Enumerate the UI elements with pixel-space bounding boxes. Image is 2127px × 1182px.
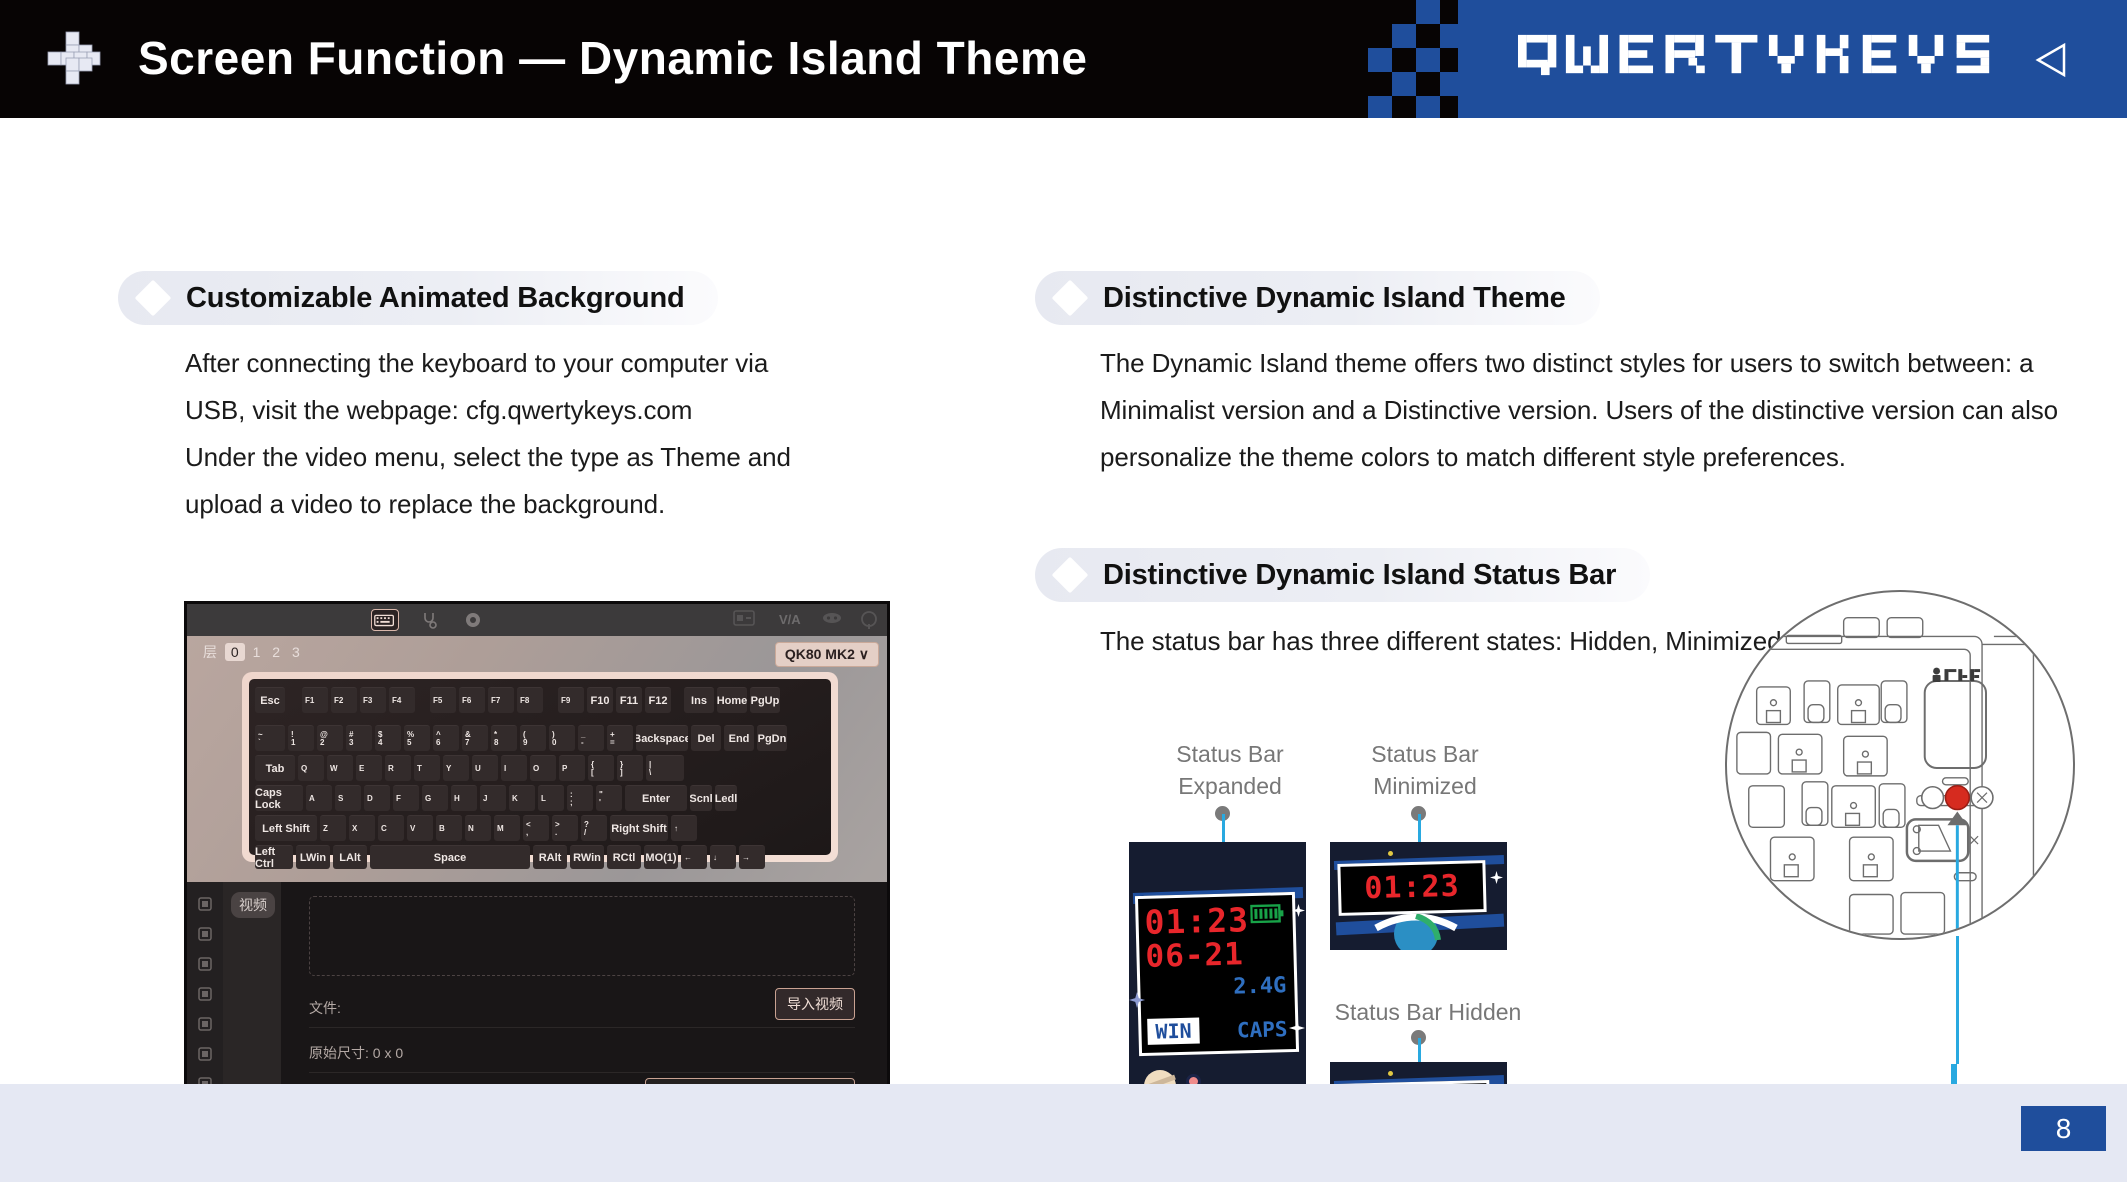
caption-status-hidden: Status Bar Hidden [1278, 996, 1578, 1028]
keycap-base: 5 [407, 739, 411, 747]
keycap[interactable]: V [407, 815, 433, 841]
keycap-base: ; [570, 799, 573, 807]
keyboard-preview: 层 0 1 2 3 QK80 MK2 ∨ EscF1F2F3F4F5F6F7F8… [187, 636, 887, 882]
keycap[interactable]: F5 [430, 687, 456, 713]
keycap[interactable]: Del [691, 725, 721, 751]
keycap[interactable]: F10 [587, 687, 613, 713]
keycap[interactable]: RAlt [533, 845, 567, 869]
keycap[interactable]: F3 [360, 687, 386, 713]
battery-full-icon [1250, 901, 1285, 929]
leader-line-switch [1956, 936, 1959, 1064]
file-label: 文件: [309, 998, 341, 1018]
body-line: Under the video menu, select the type as… [185, 434, 945, 481]
keycap-base: 0 [552, 739, 556, 747]
layer-tab-2[interactable]: 2 [272, 644, 280, 660]
screen-minimized: 01:23 [1330, 842, 1507, 950]
keycap-base: 2 [320, 739, 324, 747]
keycap[interactable]: Ledl [715, 785, 737, 811]
keycap[interactable]: N [465, 815, 491, 841]
keycap[interactable]: J [480, 785, 506, 811]
keycap[interactable]: ↑ [671, 815, 697, 841]
keycap-base: 9 [523, 739, 527, 747]
keycap[interactable]: Tab [255, 755, 295, 781]
keycap[interactable]: A [306, 785, 332, 811]
keyboard-detail-diagram [1725, 590, 2075, 940]
keycap[interactable]: Enter [625, 785, 687, 811]
section-heading-status-bar: Distinctive Dynamic Island Status Bar [1035, 548, 1650, 602]
keycap[interactable]: F12 [645, 687, 671, 713]
keycap[interactable]: F [393, 785, 419, 811]
keycap[interactable]: %5 [404, 725, 430, 751]
keycap[interactable]: <, [523, 815, 549, 841]
layer-label: 层 [203, 644, 217, 660]
keycap[interactable]: Q [298, 755, 324, 781]
checker-pattern [1350, 0, 1470, 118]
save-icon[interactable] [197, 986, 213, 1002]
clock-time: 01:23 [1341, 868, 1484, 907]
diamond-bullet-icon [1052, 557, 1089, 594]
keycap-base: 3 [349, 739, 353, 747]
keycap[interactable]: *8 [491, 725, 517, 751]
page-number: 8 [2021, 1106, 2106, 1151]
keycap[interactable]: Scnl [690, 785, 712, 811]
keycap[interactable]: ← [681, 845, 707, 869]
qwertykeys-logo [1518, 28, 2016, 90]
left-column-body: After connecting the keyboard to your co… [185, 340, 945, 528]
bulb-icon[interactable] [197, 1016, 213, 1032]
keycap-base: 1 [291, 739, 295, 747]
keycap[interactable]: PgUp [750, 687, 780, 713]
keycap[interactable]: Backspace [636, 725, 688, 751]
keycap[interactable]: RWin [570, 845, 604, 869]
keycap[interactable]: L [538, 785, 564, 811]
keycap[interactable]: F6 [459, 687, 485, 713]
app-toolbar: V/A [187, 604, 887, 636]
keycap[interactable]: K [509, 785, 535, 811]
keycap[interactable]: RCtl [607, 845, 641, 869]
keycap[interactable]: H [451, 785, 477, 811]
keycap[interactable]: (9 [520, 725, 546, 751]
card-icon[interactable] [733, 610, 753, 630]
keycap-base: ` [258, 739, 261, 747]
page-title: Screen Function — Dynamic Island Theme [138, 20, 1087, 96]
heading-text: Customizable Animated Background [186, 282, 684, 315]
diamond-bullet-icon [1052, 280, 1089, 317]
keyboard-case: EscF1F2F3F4F5F6F7F8F9F10F11F12InsHomePgU… [242, 672, 838, 862]
layer-tab-3[interactable]: 3 [292, 644, 300, 660]
keycap[interactable]: P [559, 755, 585, 781]
gear-icon[interactable] [463, 610, 483, 630]
body-line: After connecting the keyboard to your co… [185, 340, 945, 387]
keycap-base: , [526, 829, 528, 837]
status-panel-expanded: 01:23 06-21 2.4G WIN CAPS [1135, 892, 1299, 1056]
keycap[interactable]: >. [552, 815, 578, 841]
play-triangle-left-icon [2035, 42, 2067, 78]
keycap-base: ] [620, 769, 623, 777]
keycap[interactable]: M [494, 815, 520, 841]
keycap-grid[interactable]: EscF1F2F3F4F5F6F7F8F9F10F11F12InsHomePgU… [249, 679, 831, 855]
keycap[interactable]: |\ [646, 755, 684, 781]
keycap[interactable]: ↓ [710, 845, 736, 869]
keycap[interactable]: MO(1) [644, 845, 678, 869]
discord-icon[interactable] [821, 610, 841, 630]
record-icon[interactable] [197, 956, 213, 972]
keycap[interactable]: Esc [255, 687, 285, 713]
keycap[interactable]: Z [320, 815, 346, 841]
keycap[interactable]: → [739, 845, 765, 869]
keycap[interactable]: += [607, 725, 633, 751]
keycap[interactable]: Right Shift [610, 815, 668, 841]
gear-icon[interactable] [197, 1046, 213, 1062]
keycap[interactable]: Y [443, 755, 469, 781]
keycap[interactable]: Left Ctrl [255, 845, 293, 869]
keycap[interactable]: F2 [331, 687, 357, 713]
heading-text: Distinctive Dynamic Island Status Bar [1103, 559, 1616, 592]
win-indicator: WIN [1147, 1017, 1200, 1044]
keycap[interactable]: F8 [517, 687, 543, 713]
keycap-base: 4 [378, 739, 382, 747]
keycap[interactable]: Ins [684, 687, 714, 713]
keycap[interactable]: @2 [317, 725, 343, 751]
keycap[interactable]: S [335, 785, 361, 811]
keycap[interactable]: F11 [616, 687, 642, 713]
keycap[interactable]: B [436, 815, 462, 841]
size-row: 原始尺寸: 0 x 0 [309, 1033, 855, 1073]
keycap[interactable]: Left Shift [255, 815, 317, 841]
keycap[interactable]: Space [370, 845, 530, 869]
keycap[interactable]: $4 [375, 725, 401, 751]
diamond-bullet-icon [135, 280, 172, 317]
keycap-base: ' [599, 799, 601, 807]
keycap[interactable]: #3 [346, 725, 372, 751]
keycap-base: = [610, 739, 615, 747]
github-icon[interactable] [859, 610, 879, 630]
reset-button-highlight [1945, 786, 1969, 810]
list-icon[interactable] [197, 896, 213, 912]
keycap[interactable]: F1 [302, 687, 328, 713]
keycap[interactable]: ^6 [433, 725, 459, 751]
plus-blocks-icon [44, 28, 106, 90]
keycap[interactable]: F4 [389, 687, 415, 713]
layer-selector[interactable]: 层 0 1 2 3 [199, 642, 304, 662]
heading-text: Distinctive Dynamic Island Theme [1103, 282, 1566, 315]
keycap[interactable]: _- [578, 725, 604, 751]
keycap[interactable]: LWin [296, 845, 330, 869]
keycap[interactable]: !1 [288, 725, 314, 751]
keycap-base: [ [591, 769, 594, 777]
qwertykeys-logo-mark [1933, 668, 1980, 682]
body-line: upload a video to replace the background… [185, 481, 945, 528]
keycap-base: - [581, 739, 584, 747]
keycap[interactable]: D [364, 785, 390, 811]
page-footer: 8 [0, 1084, 2127, 1182]
keyboard-icon[interactable] [371, 609, 399, 631]
mouse-icon[interactable] [419, 610, 439, 630]
keycap[interactable]: T [414, 755, 440, 781]
file-row: 文件: [309, 988, 855, 1028]
keycap[interactable]: &7 [462, 725, 488, 751]
keycap[interactable]: End [724, 725, 754, 751]
grid-icon[interactable] [197, 926, 213, 942]
keycap[interactable]: }] [617, 755, 643, 781]
keycap[interactable]: W [327, 755, 353, 781]
keycap[interactable]: ?/ [581, 815, 607, 841]
keycap-base: . [555, 829, 557, 837]
keycap[interactable]: LAlt [333, 845, 367, 869]
keycap[interactable]: R [385, 755, 411, 781]
keycap-base: / [584, 829, 586, 837]
layer-tab-0[interactable]: 0 [225, 643, 245, 661]
layer-tab-1[interactable]: 1 [253, 644, 261, 660]
keycap[interactable]: Caps Lock [255, 785, 303, 811]
page-header: Screen Function — Dynamic Island Theme [0, 0, 2127, 118]
slide-body: Customizable Animated Background After c… [0, 118, 2127, 1084]
caption-status-minimized: Status Bar Minimized [1310, 738, 1540, 802]
tab-video[interactable]: 视频 [231, 892, 275, 918]
keycap[interactable]: {[ [588, 755, 614, 781]
keycap-base: \ [649, 769, 651, 777]
size-label: 原始尺寸: 0 x 0 [309, 1043, 403, 1063]
keycap[interactable]: )0 [549, 725, 575, 751]
keycap-base: 7 [465, 739, 469, 747]
keycap-base: 8 [494, 739, 498, 747]
keycap[interactable]: F9 [558, 687, 584, 713]
keycap[interactable]: X [349, 815, 375, 841]
section-heading-distinctive-theme: Distinctive Dynamic Island Theme [1035, 271, 1600, 325]
keycap[interactable]: "' [596, 785, 622, 811]
keycap[interactable]: PgDn [757, 725, 787, 751]
import-video-button[interactable]: 导入视频 [775, 988, 855, 1020]
keycap[interactable]: O [530, 755, 556, 781]
keycap-base: 6 [436, 739, 440, 747]
video-dropzone[interactable] [309, 896, 855, 976]
model-selector[interactable]: QK80 MK2 ∨ [775, 642, 879, 667]
keycap[interactable]: F7 [488, 687, 514, 713]
keycap[interactable]: ~` [255, 725, 285, 751]
status-panel-minimized: 01:23 [1337, 860, 1486, 916]
keycap[interactable]: G [422, 785, 448, 811]
keycap[interactable]: Home [717, 687, 747, 713]
section-heading-customizable-background: Customizable Animated Background [118, 271, 718, 325]
keycap[interactable]: C [378, 815, 404, 841]
keycap[interactable]: :; [567, 785, 593, 811]
va-label[interactable]: V/A [779, 612, 801, 627]
clock-date: 06-21 [1145, 936, 1244, 975]
keycap[interactable]: I [501, 755, 527, 781]
keycap[interactable]: E [356, 755, 382, 781]
right-column-body-1: The Dynamic Island theme offers two dist… [1100, 340, 2080, 481]
keycap[interactable]: U [472, 755, 498, 781]
body-line: USB, visit the webpage: cfg.qwertykeys.c… [185, 387, 945, 434]
